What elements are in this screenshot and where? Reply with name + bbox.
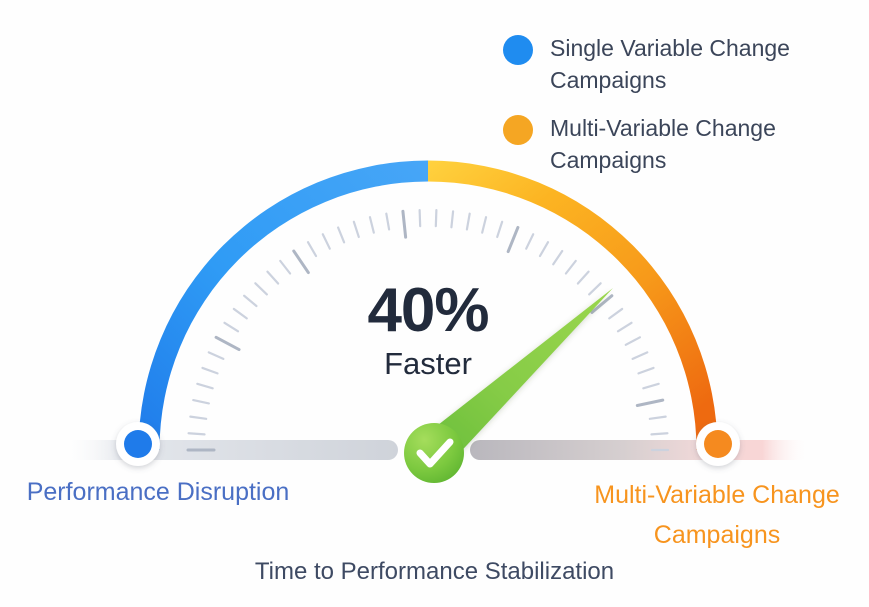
gauge-minor-tick	[244, 296, 256, 306]
gauge-minor-tick	[553, 251, 562, 264]
gauge-minor-tick	[189, 433, 205, 434]
gauge-minor-tick	[370, 217, 374, 233]
left-endpoint-knob	[116, 422, 160, 466]
gauge-minor-tick	[255, 283, 267, 294]
gauge-minor-tick	[618, 323, 632, 331]
legend-dot-icon	[503, 35, 533, 65]
legend-item-label: Single Variable Change Campaigns	[550, 32, 812, 96]
gauge-minor-tick	[626, 337, 640, 345]
gauge-minor-tick	[451, 211, 453, 227]
gauge-minor-tick	[197, 384, 212, 388]
axis-label-right: Multi-Variable Change Campaigns	[578, 475, 856, 555]
gauge-minor-tick	[338, 227, 344, 242]
gauge-minor-tick	[643, 384, 658, 388]
gauge-minor-tick	[267, 272, 278, 284]
gauge-minor-tick	[526, 234, 533, 248]
gauge-minor-tick	[386, 214, 389, 230]
gauge-minor-tick	[308, 242, 316, 256]
legend: Single Variable Change Campaigns Multi-V…	[503, 32, 833, 192]
legend-item-label: Multi-Variable Change Campaigns	[550, 112, 812, 176]
axis-label-left: Performance Disruption	[23, 472, 293, 512]
gauge-minor-tick	[234, 309, 247, 318]
gauge-minor-tick	[482, 217, 486, 233]
gauge-minor-tick	[354, 222, 359, 237]
chart-caption: Time to Performance Stabilization	[0, 558, 869, 586]
right-endpoint-knob	[696, 422, 740, 466]
legend-dot-icon	[503, 115, 533, 145]
gauge-minor-tick	[467, 214, 470, 230]
gauge-minor-tick	[193, 400, 209, 403]
gauge-ticks	[188, 210, 668, 450]
gauge-minor-tick	[436, 210, 437, 226]
gauge-minor-tick	[209, 352, 224, 359]
needle-hub	[404, 423, 464, 483]
gauge-major-tick	[403, 211, 406, 237]
gauge-minor-tick	[540, 242, 548, 256]
gauge-minor-tick	[323, 234, 330, 248]
legend-item[interactable]: Single Variable Change Campaigns	[503, 32, 833, 96]
gauge-major-tick	[637, 400, 662, 405]
infographic-canvas: Single Variable Change Campaigns Multi-V…	[0, 0, 869, 607]
gauge-minor-tick	[497, 222, 502, 237]
gauge-minor-tick	[566, 261, 576, 274]
gauge-minor-tick	[609, 309, 622, 318]
gauge-minor-tick	[651, 433, 667, 434]
gauge-minor-tick	[190, 417, 206, 419]
gauge-major-tick	[508, 227, 518, 251]
gauge-minor-tick	[224, 323, 238, 331]
gauge-major-tick	[216, 337, 239, 349]
gauge-minor-tick	[638, 368, 653, 373]
gauge-minor-tick	[202, 368, 217, 373]
gauge-minor-tick	[589, 283, 601, 294]
gauge-major-tick	[294, 251, 309, 273]
gauge-minor-tick	[578, 272, 589, 284]
gauge-minor-tick	[420, 210, 421, 226]
gauge-minor-tick	[280, 261, 290, 274]
gauge-minor-tick	[633, 352, 648, 359]
gauge-minor-tick	[650, 417, 666, 419]
gauge-arc	[138, 160, 718, 450]
legend-item[interactable]: Multi-Variable Change Campaigns	[503, 112, 833, 176]
